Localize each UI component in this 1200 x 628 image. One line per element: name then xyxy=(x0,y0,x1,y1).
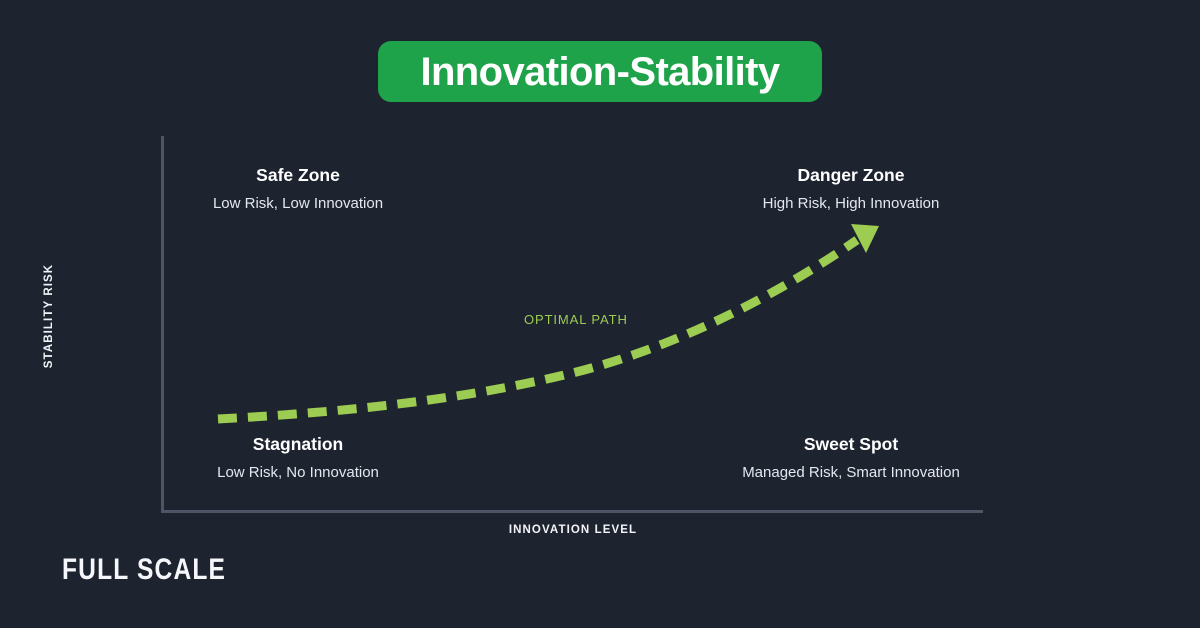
quadrant-safe-zone: Safe Zone Low Risk, Low Innovation xyxy=(148,164,448,214)
quadrant-subtitle: Managed Risk, Smart Innovation xyxy=(701,462,1001,484)
quadrant-sweet-spot: Sweet Spot Managed Risk, Smart Innovatio… xyxy=(701,433,1001,483)
quadrant-danger-zone: Danger Zone High Risk, High Innovation xyxy=(701,164,1001,214)
x-axis-title: INNOVATION LEVEL xyxy=(162,524,984,536)
quadrant-subtitle: Low Risk, Low Innovation xyxy=(148,193,448,215)
y-axis-title: STABILITY RISK xyxy=(43,231,55,401)
quadrant-title: Stagnation xyxy=(148,433,448,457)
quadrant-title: Danger Zone xyxy=(701,164,1001,188)
optimal-path-label: OPTIMAL PATH xyxy=(524,312,628,327)
quadrant-title: Safe Zone xyxy=(148,164,448,188)
quadrant-stagnation: Stagnation Low Risk, No Innovation xyxy=(148,433,448,483)
quadrant-subtitle: Low Risk, No Innovation xyxy=(148,462,448,484)
x-axis-line xyxy=(161,510,983,513)
quadrant-title: Sweet Spot xyxy=(701,433,1001,457)
quadrant-subtitle: High Risk, High Innovation xyxy=(701,193,1001,215)
brand-logo: FULL SCALE xyxy=(62,553,226,587)
infographic-canvas: Innovation-Stability STABILITY RISK INNO… xyxy=(0,0,1200,628)
